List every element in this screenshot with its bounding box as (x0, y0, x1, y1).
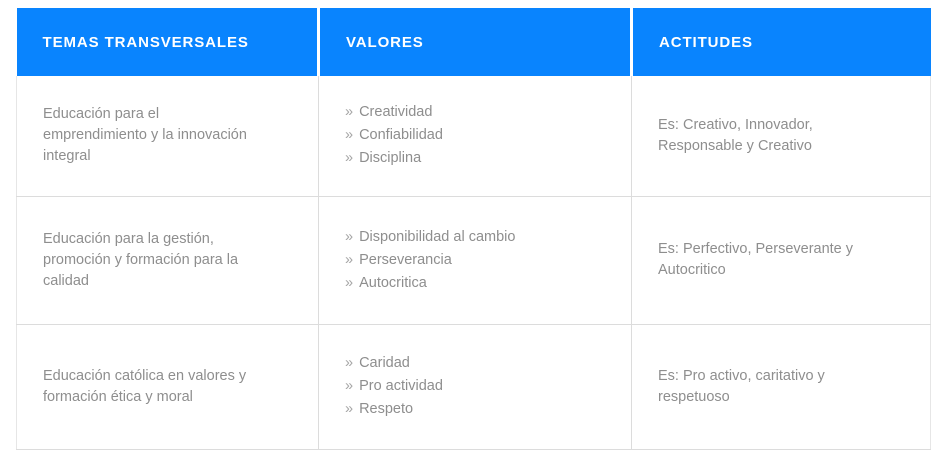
valores-list-1: » Creatividad » Confiabilidad » Discipli… (345, 101, 609, 170)
list-item: » Autocritica (345, 272, 609, 295)
list-item: » Respeto (345, 398, 609, 421)
table-row: Educación para el emprendimiento y la in… (17, 76, 931, 196)
tema-text-3: Educación católica en valores y formació… (43, 366, 296, 408)
cell-valores-1: » Creatividad » Confiabilidad » Discipli… (319, 76, 632, 196)
list-item: » Pro actividad (345, 375, 609, 398)
cell-tema-3: Educación católica en valores y formació… (17, 324, 319, 449)
valor-label: Confiabilidad (359, 124, 609, 147)
valor-label: Caridad (359, 352, 609, 375)
cell-actitudes-1: Es: Creativo, Innovador, Responsable y C… (632, 76, 931, 196)
actitudes-text-3: Es: Pro activo, caritativo y respetuoso (658, 366, 908, 408)
valor-label: Pro actividad (359, 375, 609, 398)
valor-label: Perseverancia (359, 249, 609, 272)
column-header-actitudes: ACTITUDES (632, 8, 931, 76)
transversal-topics-table: TEMAS TRANSVERSALES VALORES ACTITUDES Ed… (16, 8, 931, 450)
table-header: TEMAS TRANSVERSALES VALORES ACTITUDES (17, 8, 931, 76)
valores-list-2: » Disponibilidad al cambio » Perseveranc… (345, 226, 609, 295)
valor-label: Disciplina (359, 147, 609, 170)
chevron-double-right-icon: » (345, 101, 353, 124)
chevron-double-right-icon: » (345, 147, 353, 170)
actitudes-text-1: Es: Creativo, Innovador, Responsable y C… (658, 115, 908, 157)
chevron-double-right-icon: » (345, 352, 353, 375)
list-item: » Perseverancia (345, 249, 609, 272)
list-item: » Disponibilidad al cambio (345, 226, 609, 249)
list-item: » Creatividad (345, 101, 609, 124)
matrix-table-wrapper: TEMAS TRANSVERSALES VALORES ACTITUDES Ed… (16, 8, 930, 447)
cell-actitudes-3: Es: Pro activo, caritativo y respetuoso (632, 324, 931, 449)
list-item: » Disciplina (345, 147, 609, 170)
actitudes-text-2: Es: Perfectivo, Perseverante y Autocriti… (658, 239, 908, 281)
column-header-temas-transversales: TEMAS TRANSVERSALES (17, 8, 319, 76)
column-header-valores: VALORES (319, 8, 632, 76)
valores-list-3: » Caridad » Pro actividad » Respeto (345, 352, 609, 421)
cell-valores-3: » Caridad » Pro actividad » Respeto (319, 324, 632, 449)
table-row: Educación para la gestión, promoción y f… (17, 196, 931, 324)
table-header-row: TEMAS TRANSVERSALES VALORES ACTITUDES (17, 8, 931, 76)
chevron-double-right-icon: » (345, 272, 353, 295)
table-row: Educación católica en valores y formació… (17, 324, 931, 449)
cell-actitudes-2: Es: Perfectivo, Perseverante y Autocriti… (632, 196, 931, 324)
page-root: TEMAS TRANSVERSALES VALORES ACTITUDES Ed… (0, 0, 950, 455)
cell-tema-1: Educación para el emprendimiento y la in… (17, 76, 319, 196)
valor-label: Respeto (359, 398, 609, 421)
chevron-double-right-icon: » (345, 226, 353, 249)
valor-label: Disponibilidad al cambio (359, 226, 609, 249)
cell-tema-2: Educación para la gestión, promoción y f… (17, 196, 319, 324)
valor-label: Creatividad (359, 101, 609, 124)
chevron-double-right-icon: » (345, 124, 353, 147)
tema-text-1: Educación para el emprendimiento y la in… (43, 104, 296, 167)
chevron-double-right-icon: » (345, 249, 353, 272)
list-item: » Caridad (345, 352, 609, 375)
chevron-double-right-icon: » (345, 375, 353, 398)
valor-label: Autocritica (359, 272, 609, 295)
list-item: » Confiabilidad (345, 124, 609, 147)
tema-text-2: Educación para la gestión, promoción y f… (43, 229, 296, 292)
table-body: Educación para el emprendimiento y la in… (17, 76, 931, 449)
chevron-double-right-icon: » (345, 398, 353, 421)
cell-valores-2: » Disponibilidad al cambio » Perseveranc… (319, 196, 632, 324)
